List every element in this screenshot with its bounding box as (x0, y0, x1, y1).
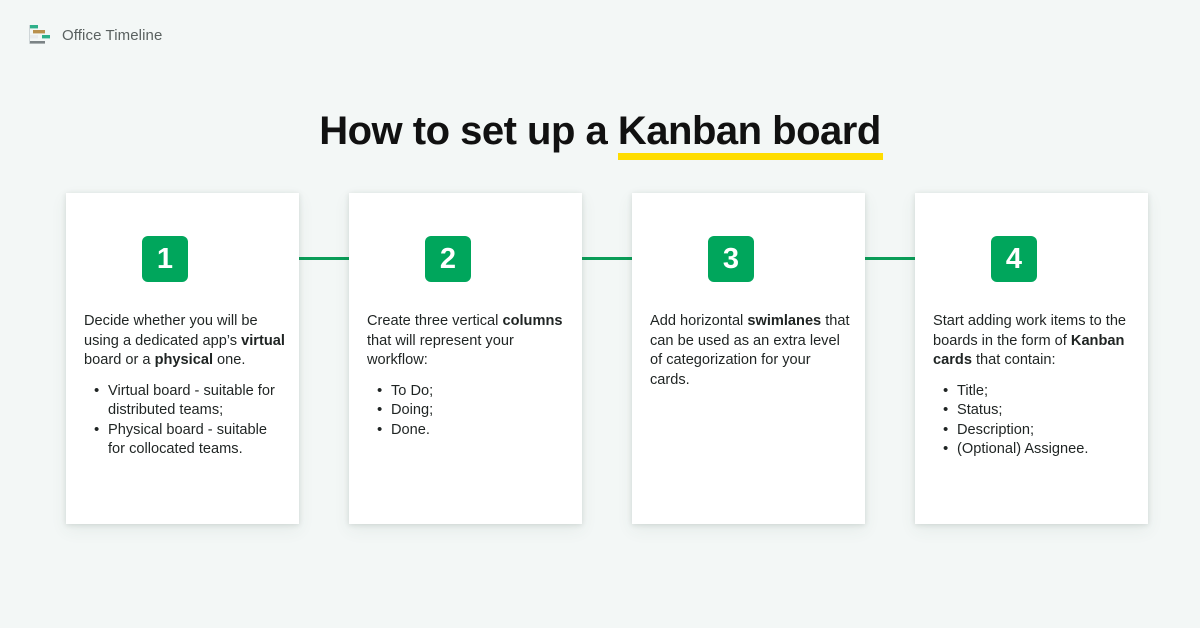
page-title-highlight: Kanban board (618, 109, 881, 153)
step-body-4: Start adding work items to the boards in… (933, 312, 1134, 460)
list-item: Done. (391, 421, 568, 441)
list-item: Physical board - suitable for collocated… (108, 421, 285, 460)
step-body-2: Create three vertical columns that will … (367, 312, 568, 440)
list-item: Doing; (391, 401, 568, 421)
step-badge-4: 4 (991, 236, 1037, 282)
step-card-2: 2 Create three vertical columns that wil… (349, 193, 582, 524)
gantt-chart-logo-icon (28, 24, 52, 46)
page-title-wrap: How to set up a Kanban board (0, 82, 1200, 180)
step-body-3: Add horizontal swimlanes that can be use… (650, 312, 851, 401)
step-bullets-2: To Do;Doing;Done. (367, 382, 568, 441)
list-item: (Optional) Assignee. (957, 440, 1134, 460)
step-badge-3: 3 (708, 236, 754, 282)
list-item: To Do; (391, 382, 568, 402)
list-item: Status; (957, 401, 1134, 421)
page-title: How to set up a Kanban board (319, 109, 881, 153)
step-card-1: 1 Decide whether you will be using a ded… (66, 193, 299, 524)
step-bullets-4: Title;Status;Description;(Optional) Assi… (933, 382, 1134, 460)
step-lead-2: Create three vertical columns that will … (367, 312, 568, 371)
steps-container: 1 Decide whether you will be using a ded… (66, 193, 1134, 524)
step-bullets-1: Virtual board - suitable for distributed… (84, 382, 285, 460)
step-badge-1: 1 (142, 236, 188, 282)
step-lead-1: Decide whether you will be using a dedic… (84, 312, 285, 371)
brand-name: Office Timeline (62, 27, 162, 44)
brand-header: Office Timeline (28, 24, 162, 46)
step-lead-3: Add horizontal swimlanes that can be use… (650, 312, 851, 390)
list-item: Title; (957, 382, 1134, 402)
list-item: Virtual board - suitable for distributed… (108, 382, 285, 421)
step-body-1: Decide whether you will be using a dedic… (84, 312, 285, 460)
list-item: Description; (957, 421, 1134, 441)
step-card-4: 4 Start adding work items to the boards … (915, 193, 1148, 524)
step-badge-2: 2 (425, 236, 471, 282)
step-lead-4: Start adding work items to the boards in… (933, 312, 1134, 371)
step-card-3: 3 Add horizontal swimlanes that can be u… (632, 193, 865, 524)
page-title-prefix: How to set up a (319, 109, 618, 153)
